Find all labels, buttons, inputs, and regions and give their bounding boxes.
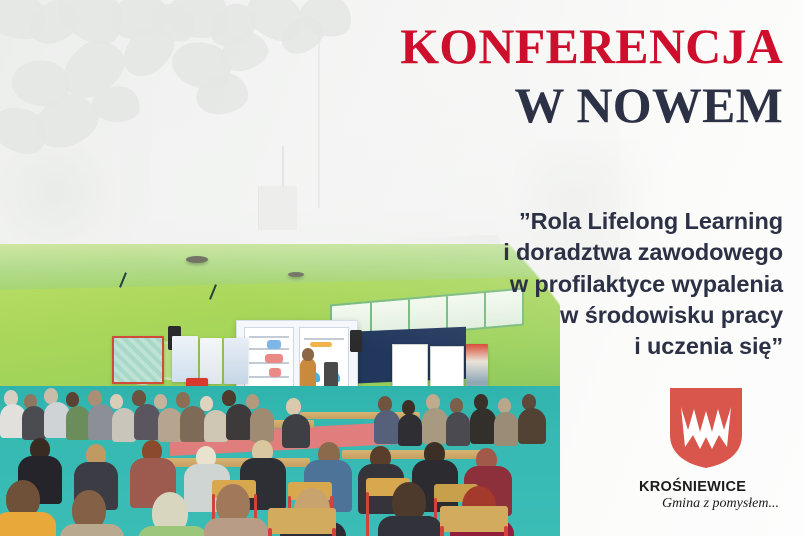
title-line-konferencja: KONFERENCJA — [363, 22, 783, 71]
title-line-w-nowem: W NOWEM — [363, 81, 783, 130]
audience-torso — [494, 412, 518, 446]
audience-torso — [282, 414, 310, 448]
chair-leg — [366, 492, 369, 536]
krosniewice-logo: KROŚNIEWICE Gmina z pomysłem... — [630, 385, 782, 512]
audience-torso — [204, 410, 228, 442]
audience-torso — [470, 408, 496, 444]
audience-head — [110, 394, 123, 409]
audience-torso — [250, 408, 274, 442]
audience-torso — [446, 412, 470, 446]
speaker-head — [302, 348, 314, 361]
chair-leg — [332, 528, 336, 536]
audience-torso — [66, 406, 90, 440]
audience-torso — [22, 406, 46, 440]
audience-head — [402, 400, 415, 415]
quote-line-1: ”Rola Lifelong Learning — [353, 206, 783, 237]
audience-torso-front — [204, 518, 268, 536]
goal-net — [112, 336, 164, 384]
audience-torso — [158, 408, 182, 442]
poster-canvas: KONFERENCJA W NOWEM ”Rola Lifelong Learn… — [0, 0, 804, 536]
audience-table — [342, 450, 492, 459]
audience-torso — [398, 414, 422, 446]
audience-torso — [180, 406, 206, 442]
quote-line-3: w profilaktyce wypalenia — [353, 269, 783, 300]
audience-torso — [112, 408, 136, 442]
page-title: KONFERENCJA W NOWEM — [363, 22, 783, 130]
ceiling-light — [288, 272, 304, 277]
chair-leg — [440, 526, 444, 536]
audience-torso — [422, 408, 448, 444]
audience-torso-front — [60, 524, 124, 536]
ceiling-light — [186, 256, 208, 263]
audience-torso — [374, 410, 400, 444]
coat-of-arms-shield-icon — [667, 385, 745, 471]
audience-head — [286, 398, 301, 415]
logo-municipality-name: KROŚNIEWICE — [630, 479, 782, 495]
audience-head — [176, 392, 190, 408]
conference-subject-quote: ”Rola Lifelong Learning i doradztwa zawo… — [353, 206, 783, 362]
audience-head — [222, 390, 236, 406]
chair-back-front — [268, 508, 336, 534]
audience-torso-front — [138, 526, 208, 536]
logo-tagline: Gmina z pomysłem... — [630, 496, 782, 512]
quote-line-2: i doradztwa zawodowego — [353, 237, 783, 268]
audience-torso-front — [378, 516, 442, 536]
audience-head — [450, 398, 463, 413]
audience-torso-front — [0, 512, 56, 536]
chair-leg — [268, 528, 272, 536]
audience-torso — [134, 404, 160, 440]
quote-line-5: i uczenia się” — [353, 331, 783, 362]
audience-torso — [88, 404, 114, 440]
rollup-banner-a — [172, 336, 198, 382]
chair-back-front — [440, 506, 508, 532]
audience-torso — [226, 404, 252, 440]
audience-head — [66, 392, 79, 407]
audience-torso — [518, 408, 546, 444]
rollup-banner-c — [224, 338, 248, 384]
chair-leg — [504, 526, 508, 536]
quote-line-4: w środowisku pracy — [353, 300, 783, 331]
audience-head — [498, 398, 511, 413]
